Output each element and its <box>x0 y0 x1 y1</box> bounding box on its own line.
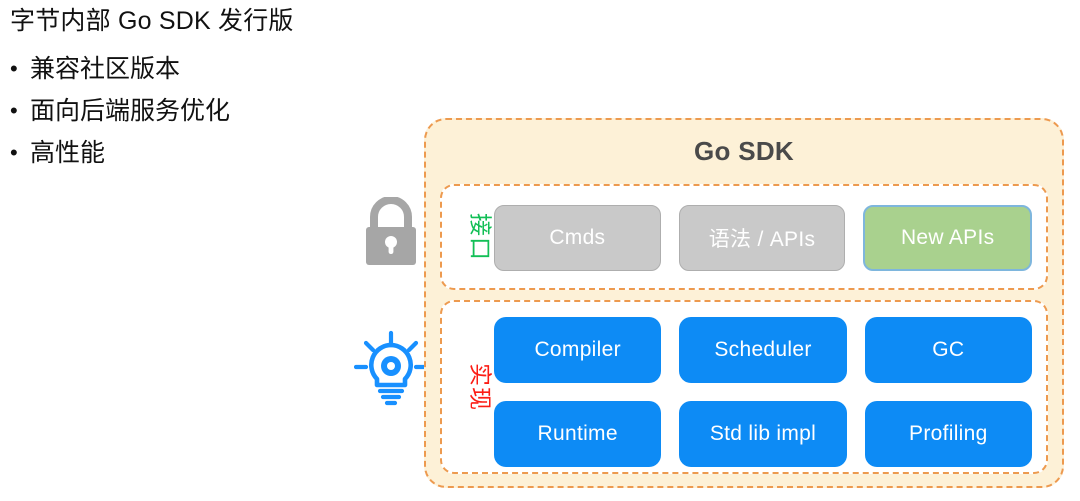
chip-label: Runtime <box>538 422 618 446</box>
chip-label: Scheduler <box>714 338 811 362</box>
implementation-chip-row-1: Compiler Scheduler GC <box>494 317 1032 383</box>
slide-text-column: 字节内部 Go SDK 发行版 • 兼容社区版本 • 面向后端服务优化 • 高性… <box>10 2 410 174</box>
lock-icon <box>360 197 422 269</box>
chip-cmds[interactable]: Cmds <box>494 205 661 271</box>
chip-label: Compiler <box>534 338 620 362</box>
chip-scheduler[interactable]: Scheduler <box>679 317 846 383</box>
chip-label: Profiling <box>909 422 988 446</box>
chip-std-lib-impl[interactable]: Std lib impl <box>679 401 846 467</box>
feature-bullet-list: • 兼容社区版本 • 面向后端服务优化 • 高性能 <box>10 48 410 174</box>
chip-profiling[interactable]: Profiling <box>865 401 1032 467</box>
implementation-chip-row-2: Runtime Std lib impl Profiling <box>494 401 1032 467</box>
chip-new-apis[interactable]: New APIs <box>863 205 1032 271</box>
go-sdk-diagram: Go SDK 接口 Cmds 语法 / APIs New APIs 实现 Com… <box>424 118 1064 488</box>
chip-gc[interactable]: GC <box>865 317 1032 383</box>
chip-syntax-apis[interactable]: 语法 / APIs <box>679 205 846 271</box>
bullet-dot-icon: • <box>10 48 30 90</box>
list-item: • 兼容社区版本 <box>10 48 410 90</box>
chip-compiler[interactable]: Compiler <box>494 317 661 383</box>
list-item: • 高性能 <box>10 132 410 174</box>
interface-panel: 接口 Cmds 语法 / APIs New APIs <box>440 184 1048 290</box>
list-item-label: 兼容社区版本 <box>30 48 410 90</box>
chip-label: Cmds <box>549 226 605 250</box>
chip-label: Std lib impl <box>710 422 816 446</box>
diagram-title: Go SDK <box>426 136 1062 167</box>
list-item: • 面向后端服务优化 <box>10 90 410 132</box>
lightbulb-gear-icon <box>354 330 428 406</box>
interface-chip-row: Cmds 语法 / APIs New APIs <box>494 205 1032 271</box>
diagram-icon-column <box>352 115 430 485</box>
bullet-dot-icon: • <box>10 90 30 132</box>
interface-section-label: 接口 <box>469 213 492 261</box>
chip-label: New APIs <box>901 226 994 250</box>
chip-label: GC <box>932 338 964 362</box>
implementation-panel: 实现 Compiler Scheduler GC Runtime Std lib… <box>440 300 1048 474</box>
bullet-dot-icon: • <box>10 132 30 174</box>
chip-runtime[interactable]: Runtime <box>494 401 661 467</box>
page-title: 字节内部 Go SDK 发行版 <box>10 2 410 40</box>
chip-label: 语法 / APIs <box>709 223 816 253</box>
implementation-section-label: 实现 <box>469 363 492 411</box>
